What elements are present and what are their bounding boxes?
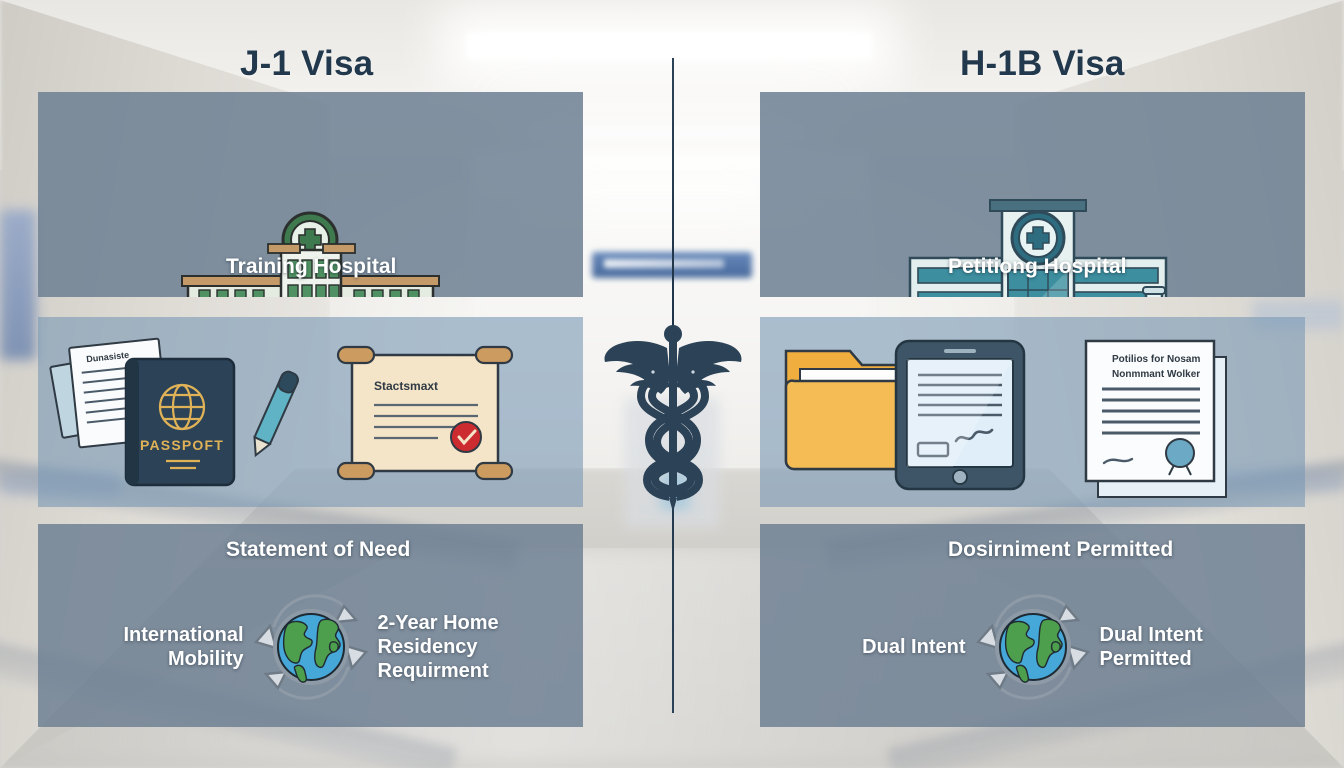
h1b-documents-illustration: Potilios for Nosam Nonmmant Wolker (760, 317, 1305, 507)
column-title-h1b: H-1B Visa (960, 44, 1125, 84)
mobility-text-right: 2-Year Home Residency Requirment (378, 611, 544, 683)
panel-j1-mobility: Statement of Need International Mobility (38, 524, 583, 727)
ceiling-light-panel (466, 32, 872, 60)
dual-intent-text-left: Dual Intent (800, 635, 966, 659)
ceiling-light-panel (576, 186, 756, 195)
panel-label-petitioning-hospital: Petitiong Hospital (760, 255, 1305, 279)
svg-text:Potilios for Nosam: Potilios for Nosam (1112, 354, 1200, 365)
panel-label-dual-intent-permitted: Dosirniment Permitted (760, 538, 1305, 562)
panel-label-training-hospital: Training Hospital (38, 255, 583, 279)
caduceus-icon (601, 318, 745, 514)
wall-accent (0, 210, 36, 360)
dual-intent-text-right: Dual Intent Permitted (1100, 623, 1266, 671)
panel-h1b-dual-intent: Dosirniment Permitted Dual Intent (760, 524, 1305, 727)
svg-text:Nonmmant Wolker: Nonmmant Wolker (1112, 369, 1200, 380)
mobility-text-left: International Mobility (78, 623, 244, 671)
panel-j1-documents: Dunasiste PASSPOFT (38, 317, 583, 507)
panel-label-statement-of-need: Statement of Need (38, 538, 583, 562)
j1-documents-illustration: Dunasiste PASSPOFT (38, 317, 583, 507)
h1b-dual-intent-row: Dual Intent (760, 582, 1305, 712)
svg-text:Stactsmaxt: Stactsmaxt (374, 379, 438, 393)
j1-mobility-row: International Mobility (38, 582, 583, 712)
svg-text:PASSPOFT: PASSPOFT (140, 437, 224, 453)
column-title-j1: J-1 Visa (240, 44, 373, 84)
wayfinding-sign-text (604, 259, 724, 268)
panel-j1-training-hospital: Training Hospital (38, 92, 583, 297)
globe-cycle-icon (248, 584, 374, 710)
panel-h1b-petitioning-hospital: Petitiong Hospital (760, 92, 1305, 297)
globe-cycle-icon (970, 584, 1096, 710)
panel-h1b-documents: Potilios for Nosam Nonmmant Wolker (760, 317, 1305, 507)
